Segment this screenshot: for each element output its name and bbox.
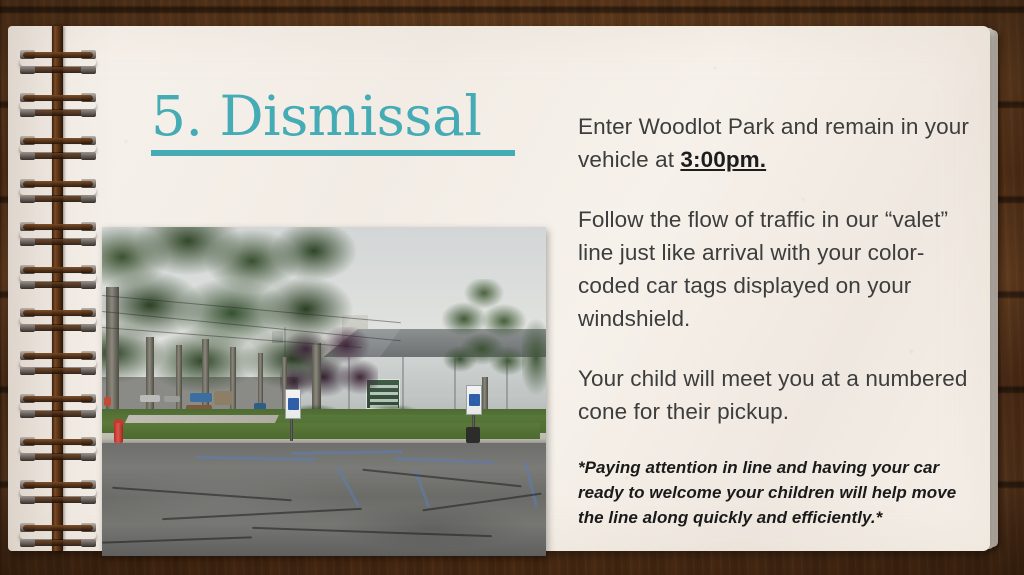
instructions-text-column: Enter Woodlot Park and remain in your ve… (578, 110, 978, 530)
spiral-ring (20, 179, 96, 205)
asphalt-crack (112, 487, 292, 502)
paragraph-text: Enter Woodlot Park and remain in your ve… (578, 114, 969, 172)
parking-line (292, 450, 402, 455)
spiral-ring (20, 136, 96, 162)
trash-can (466, 427, 480, 443)
asphalt-crack (162, 508, 362, 520)
parking-line (196, 456, 316, 462)
notebook-page: 5. Dismissal (8, 26, 990, 551)
parking-line (336, 466, 359, 506)
blue-handicap-parking-sign (466, 385, 482, 415)
spiral-ring (20, 93, 96, 119)
spiral-ring (20, 480, 96, 506)
parking-lot-photo (102, 227, 546, 556)
spiral-ring (20, 394, 96, 420)
spiral-ring (20, 50, 96, 76)
paragraph-arrival-time: Enter Woodlot Park and remain in your ve… (578, 110, 978, 176)
spiral-ring (20, 308, 96, 334)
spiral-ring (20, 265, 96, 291)
asphalt-crack (252, 527, 492, 537)
asphalt-crack (362, 469, 521, 488)
arrival-time-emphasis: 3:00pm. (680, 147, 766, 172)
blue-truck (190, 393, 212, 402)
asphalt-crack (102, 536, 252, 543)
parked-car (140, 395, 160, 402)
title-underline (151, 150, 515, 156)
spiral-ring (20, 437, 96, 463)
small-red-marker (104, 397, 111, 406)
blue-handicap-parking-sign (285, 389, 301, 419)
footnote-attention: *Paying attention in line and having you… (578, 455, 974, 530)
asphalt-crack (422, 493, 541, 512)
parking-line (524, 462, 538, 507)
shed (214, 391, 232, 405)
red-fire-hydrant (114, 423, 123, 443)
asphalt-parking-lot (102, 443, 546, 556)
spiral-ring (20, 351, 96, 377)
page-title: 5. Dismissal (151, 88, 481, 144)
spiral-notebook: 5. Dismissal (8, 26, 998, 551)
paragraph-numbered-cone: Your child will meet you at a numbered c… (578, 362, 978, 428)
paragraph-valet-line: Follow the flow of traffic in our “valet… (578, 203, 978, 335)
tree-far-right (522, 307, 546, 417)
spiral-ring (20, 523, 96, 549)
parked-car (164, 396, 180, 402)
spiral-ring (20, 222, 96, 248)
parking-line (394, 457, 494, 463)
